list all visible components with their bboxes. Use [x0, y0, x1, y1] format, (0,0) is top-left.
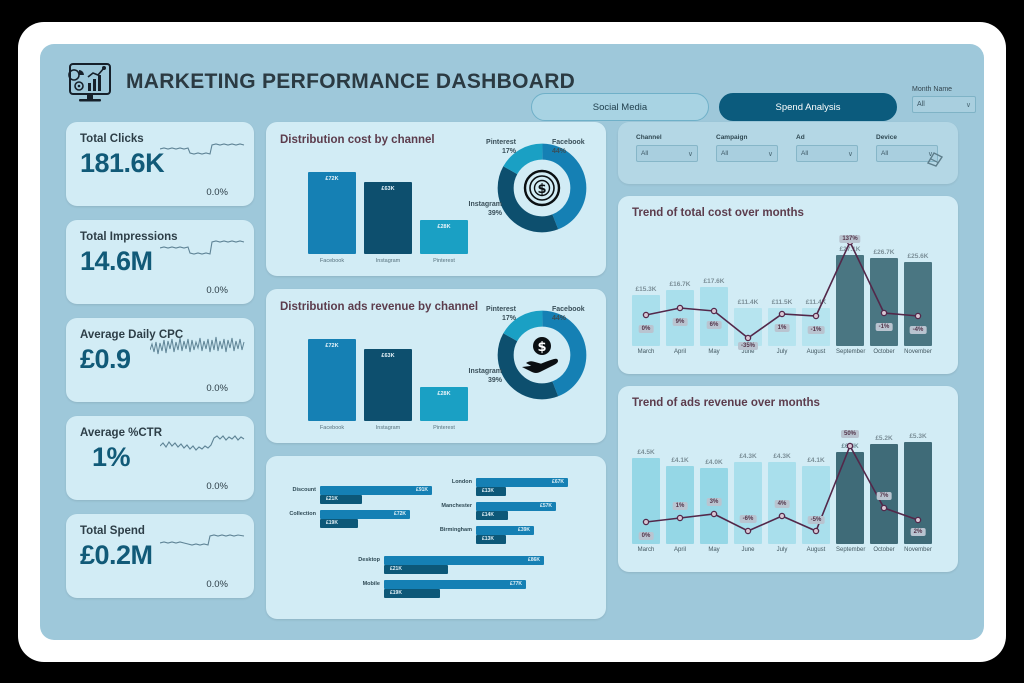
- bar-value: £63K: [381, 186, 394, 192]
- kpi-value: 1%: [92, 442, 130, 473]
- sparkline-icon: [160, 528, 246, 563]
- hbar-row[interactable]: London £67K £13K: [476, 478, 568, 496]
- hbar-primary-value: £77K: [510, 581, 522, 587]
- filter-bar: Channel All ∨ Campaign All ∨ Ad All ∨: [618, 122, 958, 184]
- trend-revenue-plot: £4.5K March £4.1K April £4.0K May £4.3K …: [630, 420, 946, 558]
- chart-distribution-cost: Distribution cost by channel £72K Facebo…: [266, 122, 606, 276]
- bar-instagram[interactable]: £63K Instagram: [364, 182, 412, 254]
- trend-pct-chip: 7%: [877, 492, 892, 500]
- month-name-label: Month Name: [912, 86, 976, 93]
- middle-column: Distribution cost by channel £72K Facebo…: [266, 122, 606, 619]
- kpi-card-total-impressions[interactable]: Total Impressions 14.6M 0.0%: [66, 220, 254, 304]
- chevron-down-icon: ∨: [966, 101, 971, 109]
- kpi-card-total-clicks[interactable]: Total Clicks 181.6K 0.0%: [66, 122, 254, 206]
- kpi-title: Total Clicks: [80, 133, 144, 145]
- trend-pct-chip: -6%: [740, 515, 757, 523]
- trend-revenue-line: [630, 420, 946, 558]
- hbar-label: Collection: [289, 511, 316, 517]
- hbar-primary-value: £72K: [394, 511, 406, 517]
- trend-pct-chip: 3%: [707, 498, 722, 506]
- donut-label-instagram: Instagram 39%: [440, 367, 502, 385]
- chevron-down-icon: ∨: [688, 150, 693, 158]
- chart-title-text: Distribution ads revenue by channel: [280, 301, 478, 313]
- filter-value: All: [641, 150, 648, 157]
- sparkline-icon: [160, 136, 246, 171]
- tab-spend-analysis-label: Spend Analysis: [776, 102, 841, 113]
- filter-label: Ad: [796, 134, 858, 141]
- sparkline-icon: [160, 234, 246, 269]
- trend-pct-chip: 1%: [673, 502, 688, 510]
- kpi-delta: 0.0%: [206, 383, 228, 394]
- hbar-row[interactable]: Collection £72K £19K: [320, 510, 432, 528]
- kpi-delta: 0.0%: [206, 285, 228, 296]
- bar-value: £72K: [325, 343, 338, 349]
- chart-distribution-ads-revenue: Distribution ads revenue by channel £72K…: [266, 289, 606, 443]
- filter-campaign-select[interactable]: All ∨: [716, 145, 778, 162]
- bar-value: £72K: [325, 176, 338, 182]
- donut-label-instagram: Instagram 39%: [440, 200, 502, 218]
- hbar-primary-value: £67K: [552, 479, 564, 485]
- bar-category: Pinterest: [420, 425, 468, 431]
- filter-channel-select[interactable]: All ∨: [636, 145, 698, 162]
- hbar-primary-value: £91K: [416, 487, 428, 493]
- trend-pct-chip: 9%: [673, 318, 688, 326]
- chart-title: Trend of total cost over months: [632, 207, 804, 219]
- donut-label-facebook: Facebook 44%: [552, 305, 585, 323]
- hbar-label: Discount: [292, 487, 316, 493]
- bar-category: Instagram: [364, 258, 412, 264]
- hbar-row[interactable]: Manchester £57K £14K: [476, 502, 568, 520]
- chart-trend-total-cost: Trend of total cost over months £15.3K M…: [618, 196, 958, 374]
- group-city: London £67K £13K Manchester £57K £14K: [476, 478, 568, 546]
- trend-pct-chip: -1%: [808, 326, 825, 334]
- filter-label: Channel: [636, 134, 698, 141]
- bar-category: Facebook: [308, 425, 356, 431]
- right-column: Channel All ∨ Campaign All ∨ Ad All ∨: [618, 122, 958, 584]
- hbar-row[interactable]: Mobile £77K £19K: [384, 580, 544, 598]
- trend-pct-chip: 137%: [839, 235, 860, 243]
- hbar-row[interactable]: Birmingham £39K £13K: [476, 526, 568, 544]
- hbar-row[interactable]: Desktop £86K £21K: [384, 556, 544, 574]
- bar-value: £63K: [381, 353, 394, 359]
- kpi-value: 14.6M: [80, 246, 153, 277]
- hbar-secondary-value: £13K: [482, 536, 494, 542]
- filter-label: Device: [876, 134, 938, 141]
- bar-value: £28K: [437, 224, 450, 230]
- trend-pct-chip: 0%: [639, 532, 654, 540]
- bar-instagram[interactable]: £63K Instagram: [364, 349, 412, 421]
- bar-category: Pinterest: [420, 258, 468, 264]
- group-offer-type: Discount £91K £21K Collection £72K £19K: [320, 486, 432, 530]
- filter-ad-select[interactable]: All ∨: [796, 145, 858, 162]
- kpi-title: Total Spend: [80, 525, 145, 537]
- chart-title: Trend of ads revenue over months: [632, 397, 820, 409]
- tab-social-media[interactable]: Social Media: [531, 93, 709, 121]
- trend-cost-plot: £15.3K March £16.7K April £17.6K May £11…: [630, 230, 946, 360]
- filter-campaign: Campaign All ∨: [716, 134, 778, 162]
- filter-value: All: [801, 150, 808, 157]
- chevron-down-icon: ∨: [848, 150, 853, 158]
- sparkline-icon: [160, 430, 246, 467]
- filter-channel: Channel All ∨: [636, 134, 698, 162]
- donut-label-pinterest: Pinterest 17%: [456, 305, 516, 323]
- kpi-delta: 0.0%: [206, 481, 228, 492]
- hbar-primary-value: £86K: [528, 557, 540, 563]
- filter-value: All: [721, 150, 728, 157]
- bar-value: £28K: [437, 391, 450, 397]
- kpi-card-average-ctr[interactable]: Average %CTR 1% 0.0%: [66, 416, 254, 500]
- hand-holding-dollar-icon: $: [518, 331, 566, 384]
- filter-value: All: [881, 150, 888, 157]
- bar-pinterest[interactable]: £28K Pinterest: [420, 387, 468, 421]
- hbar-secondary-value: £19K: [390, 590, 402, 596]
- hbar-label: Mobile: [363, 581, 380, 587]
- sparkline-icon: [150, 332, 246, 371]
- hbar-label: Desktop: [358, 557, 380, 563]
- dollar-coin-icon: $: [520, 166, 564, 215]
- kpi-delta: 0.0%: [206, 579, 228, 590]
- hbar-label: Birmingham: [440, 527, 472, 533]
- chart-segment-breakdown: Discount £91K £21K Collection £72K £19K: [266, 456, 606, 619]
- page-title: MARKETING PERFORMANCE DASHBOARD: [126, 70, 575, 94]
- filter-label: Campaign: [716, 134, 778, 141]
- svg-text:$: $: [537, 182, 546, 197]
- chart-title: Distribution ads revenue by channel: [280, 300, 478, 314]
- kpi-value: £0.2M: [80, 540, 153, 571]
- bar-facebook[interactable]: £72K Facebook: [308, 172, 356, 254]
- kpi-value: 181.6K: [80, 148, 164, 179]
- tab-spend-analysis[interactable]: Spend Analysis: [719, 93, 897, 121]
- month-name-select[interactable]: All ∨: [912, 96, 976, 113]
- kpi-column: Total Clicks 181.6K 0.0% Total Impressio…: [66, 122, 254, 612]
- hbar-secondary-value: £21K: [390, 566, 402, 572]
- hbar-secondary-value: £13K: [482, 488, 494, 494]
- trend-pct-chip: -5%: [808, 516, 825, 524]
- kpi-title: Average %CTR: [80, 427, 162, 439]
- kpi-delta: 0.0%: [206, 187, 228, 198]
- kpi-value: £0.9: [80, 344, 131, 375]
- month-name-filter: Month Name All ∨: [912, 86, 976, 113]
- trend-pct-chip: -35%: [738, 342, 758, 350]
- trend-pct-chip: -1%: [876, 323, 893, 331]
- page-frame: MARKETING PERFORMANCE DASHBOARD Social M…: [18, 22, 1006, 662]
- hbar-secondary-value: £14K: [482, 512, 494, 518]
- donut-label-pinterest: Pinterest 17%: [456, 138, 516, 156]
- month-name-value: All: [917, 101, 925, 108]
- trend-pct-chip: 0%: [639, 325, 654, 333]
- hbar-secondary-value: £21K: [326, 496, 338, 502]
- hbar-primary-value: £39K: [518, 527, 530, 533]
- hbar-row[interactable]: Discount £91K £21K: [320, 486, 432, 504]
- trend-cost-line: [630, 230, 946, 360]
- hbar-label: Manchester: [441, 503, 472, 509]
- eraser-icon[interactable]: [926, 150, 944, 173]
- chevron-down-icon: ∨: [768, 150, 773, 158]
- dashboard-root: MARKETING PERFORMANCE DASHBOARD Social M…: [40, 44, 984, 640]
- trend-pct-chip: -4%: [910, 326, 927, 334]
- chart-title: Distribution cost by channel: [280, 133, 435, 147]
- trend-pct-chip: 6%: [707, 321, 722, 329]
- bar-pinterest[interactable]: £28K Pinterest: [420, 220, 468, 254]
- trend-pct-chip: 1%: [775, 324, 790, 332]
- tab-social-media-label: Social Media: [593, 102, 647, 113]
- dashboard-monitor-icon: [68, 62, 112, 104]
- group-device: Desktop £86K £21K Mobile £77K £19K: [384, 556, 544, 600]
- filter-ad: Ad All ∨: [796, 134, 858, 162]
- trend-pct-chip: 4%: [775, 500, 790, 508]
- trend-pct-chip: 2%: [911, 528, 926, 536]
- svg-text:$: $: [537, 340, 546, 355]
- chart-title-text: Distribution cost by channel: [280, 134, 435, 146]
- kpi-card-average-daily-cpc[interactable]: Average Daily CPC £0.9 0.0%: [66, 318, 254, 402]
- bar-category: Facebook: [308, 258, 356, 264]
- donut-label-facebook: Facebook 44%: [552, 138, 585, 156]
- bar-category: Instagram: [364, 425, 412, 431]
- hbar-secondary-value: £19K: [326, 520, 338, 526]
- bar-facebook[interactable]: £72K Facebook: [308, 339, 356, 421]
- hbar-label: London: [452, 479, 472, 485]
- chart-trend-ads-revenue: Trend of ads revenue over months £4.5K M…: [618, 386, 958, 572]
- kpi-card-total-spend[interactable]: Total Spend £0.2M 0.0%: [66, 514, 254, 598]
- trend-pct-chip: 50%: [841, 430, 859, 438]
- hbar-primary-value: £57K: [540, 503, 552, 509]
- dashboard-header: MARKETING PERFORMANCE DASHBOARD Social M…: [40, 44, 984, 116]
